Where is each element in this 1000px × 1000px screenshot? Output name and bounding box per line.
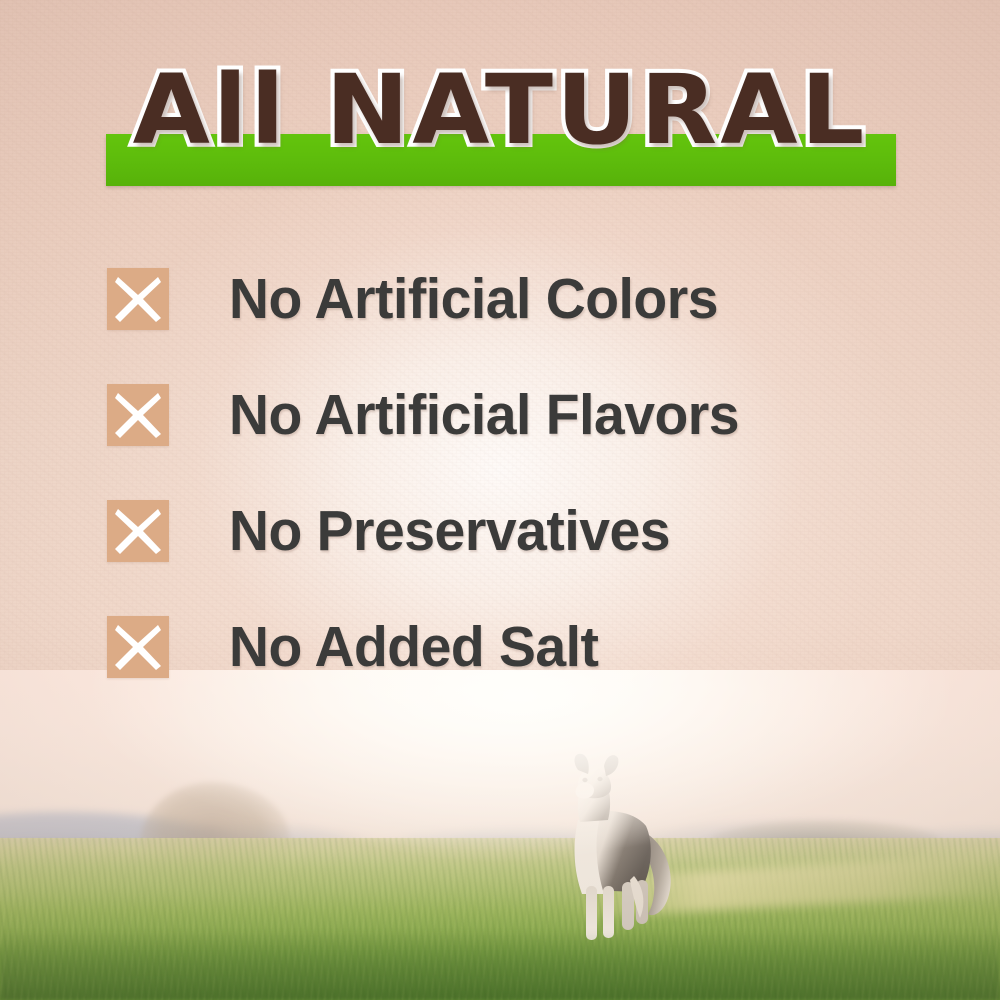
claim-label: No Added Salt: [229, 619, 598, 676]
claims-list: No Artificial Colors No Artificial Flavo…: [107, 268, 927, 732]
claim-label: No Artificial Colors: [229, 271, 718, 328]
headline-text: All NATURAL: [0, 62, 1000, 158]
list-item: No Artificial Flavors: [107, 384, 927, 446]
list-item: No Preservatives: [107, 500, 927, 562]
list-item: No Added Salt: [107, 616, 927, 678]
list-item: No Artificial Colors: [107, 268, 927, 330]
headline-block: All NATURAL: [0, 62, 1000, 202]
x-mark-icon: [107, 500, 169, 562]
claim-label: No Preservatives: [229, 503, 670, 560]
x-mark-icon: [107, 384, 169, 446]
x-mark-icon: [107, 616, 169, 678]
product-claims-infographic: All NATURAL No Artificial Colors No Arti…: [0, 0, 1000, 1000]
claim-label: No Artificial Flavors: [229, 387, 739, 444]
x-mark-icon: [107, 268, 169, 330]
